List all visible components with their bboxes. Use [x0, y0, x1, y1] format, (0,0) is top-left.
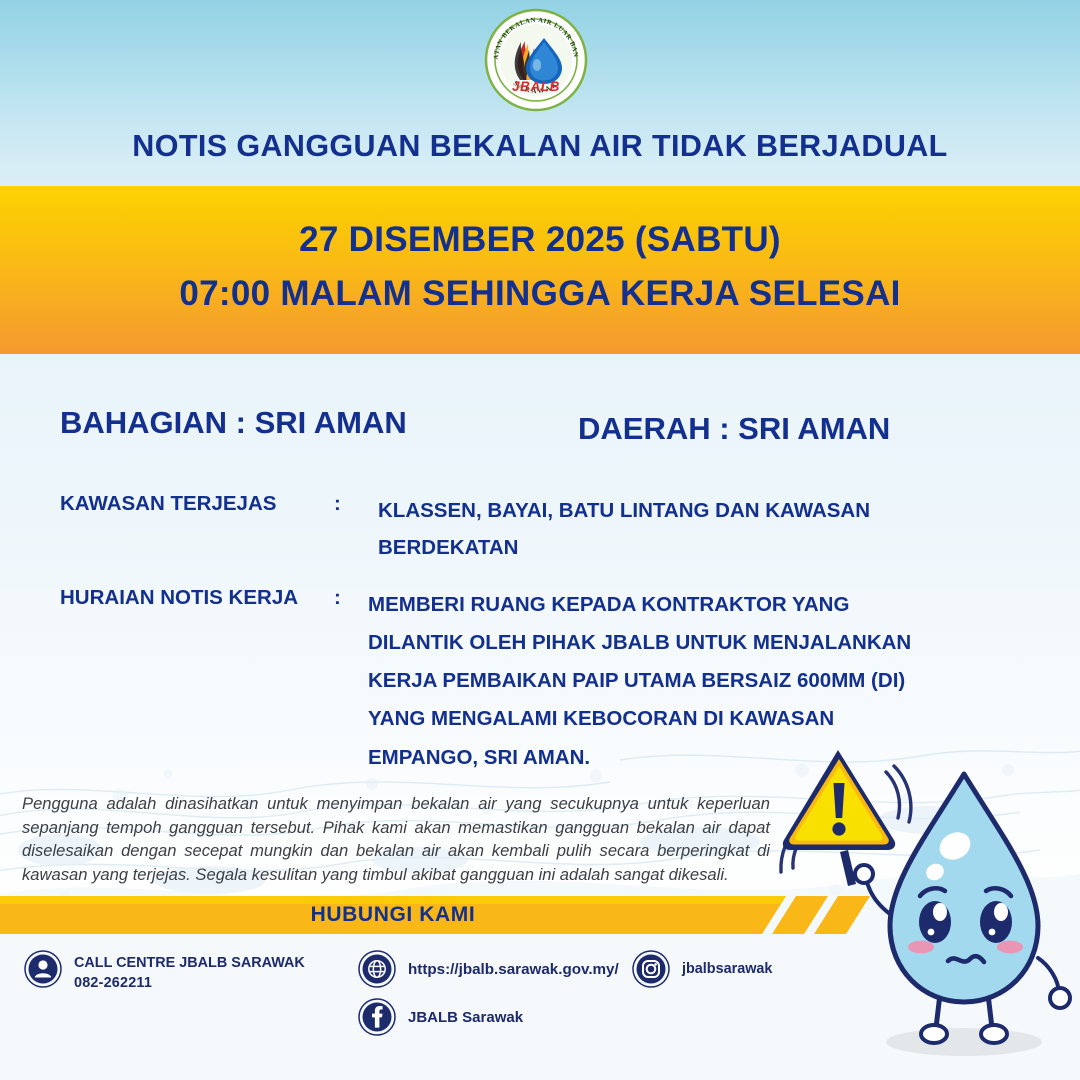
instagram-icon — [632, 950, 670, 988]
work-description-label: HURAIAN NOTIS KERJA — [60, 586, 334, 610]
svg-text:JBALB: JBALB — [512, 79, 560, 94]
affected-area-row: KAWASAN TERJEJAS : KLASSEN, BAYAI, BATU … — [60, 492, 1030, 567]
contact-facebook[interactable]: JBALB Sarawak — [358, 998, 523, 1036]
work-description-line3: KERJA PEMBAIKAN PAIP UTAMA BERSAIZ 600MM… — [368, 662, 968, 700]
contact-website[interactable]: https://jbalb.sarawak.gov.my/ — [358, 950, 619, 988]
work-description-line4: YANG MENGALAMI KEBOCORAN DI KAWASAN — [368, 700, 968, 738]
work-description-line1: MEMBERI RUANG KEPADA KONTRAKTOR YANG — [368, 586, 968, 624]
affected-area-colon: : — [334, 492, 378, 516]
work-description-colon: : — [334, 586, 368, 610]
date-time-banner: 27 DISEMBER 2025 (SABTU) 07:00 MALAM SEH… — [0, 186, 1080, 354]
globe-icon — [358, 950, 396, 988]
bahagian-label: BAHAGIAN : SRI AMAN — [60, 405, 407, 441]
contact-instagram[interactable]: jbalbsarawak — [632, 950, 772, 988]
disclaimer-text: Pengguna adalah dinasihatkan untuk menyi… — [22, 792, 770, 887]
affected-area-value-line2: BERDEKATAN — [378, 529, 1018, 566]
instagram-handle: jbalbsarawak — [682, 959, 772, 979]
jbalb-sarawak-logo: JABATAN BEKALAN AIR LUAR BANDAR SARAWAK … — [484, 8, 588, 112]
notice-time: 07:00 MALAM SEHINGGA KERJA SELESAI — [0, 274, 1080, 314]
warning-triangle-sign — [778, 736, 914, 886]
website-url: https://jbalb.sarawak.gov.my/ — [408, 959, 619, 981]
person-icon — [24, 950, 62, 988]
water-supply-disruption-notice: JABATAN BEKALAN AIR LUAR BANDAR SARAWAK … — [0, 0, 1080, 1080]
contact-bar-label: HUBUNGI KAMI — [0, 896, 786, 934]
work-description-line2: DILANTIK OLEH PIHAK JBALB UNTUK MENJALAN… — [368, 624, 968, 662]
facebook-icon — [358, 998, 396, 1036]
call-centre-line1: CALL CENTRE JBALB SARAWAK — [74, 953, 305, 973]
affected-area-label: KAWASAN TERJEJAS — [60, 492, 334, 516]
contact-call-centre[interactable]: CALL CENTRE JBALB SARAWAK 082-262211 — [24, 950, 305, 994]
page-title: NOTIS GANGGUAN BEKALAN AIR TIDAK BERJADU… — [0, 129, 1080, 164]
call-centre-phone: 082-262211 — [74, 973, 305, 993]
facebook-page: JBALB Sarawak — [408, 1007, 523, 1028]
daerah-label: DAERAH : SRI AMAN — [578, 411, 890, 447]
affected-area-value-line1: KLASSEN, BAYAI, BATU LINTANG DAN KAWASAN — [378, 492, 1018, 529]
notice-date: 27 DISEMBER 2025 (SABTU) — [0, 220, 1080, 260]
